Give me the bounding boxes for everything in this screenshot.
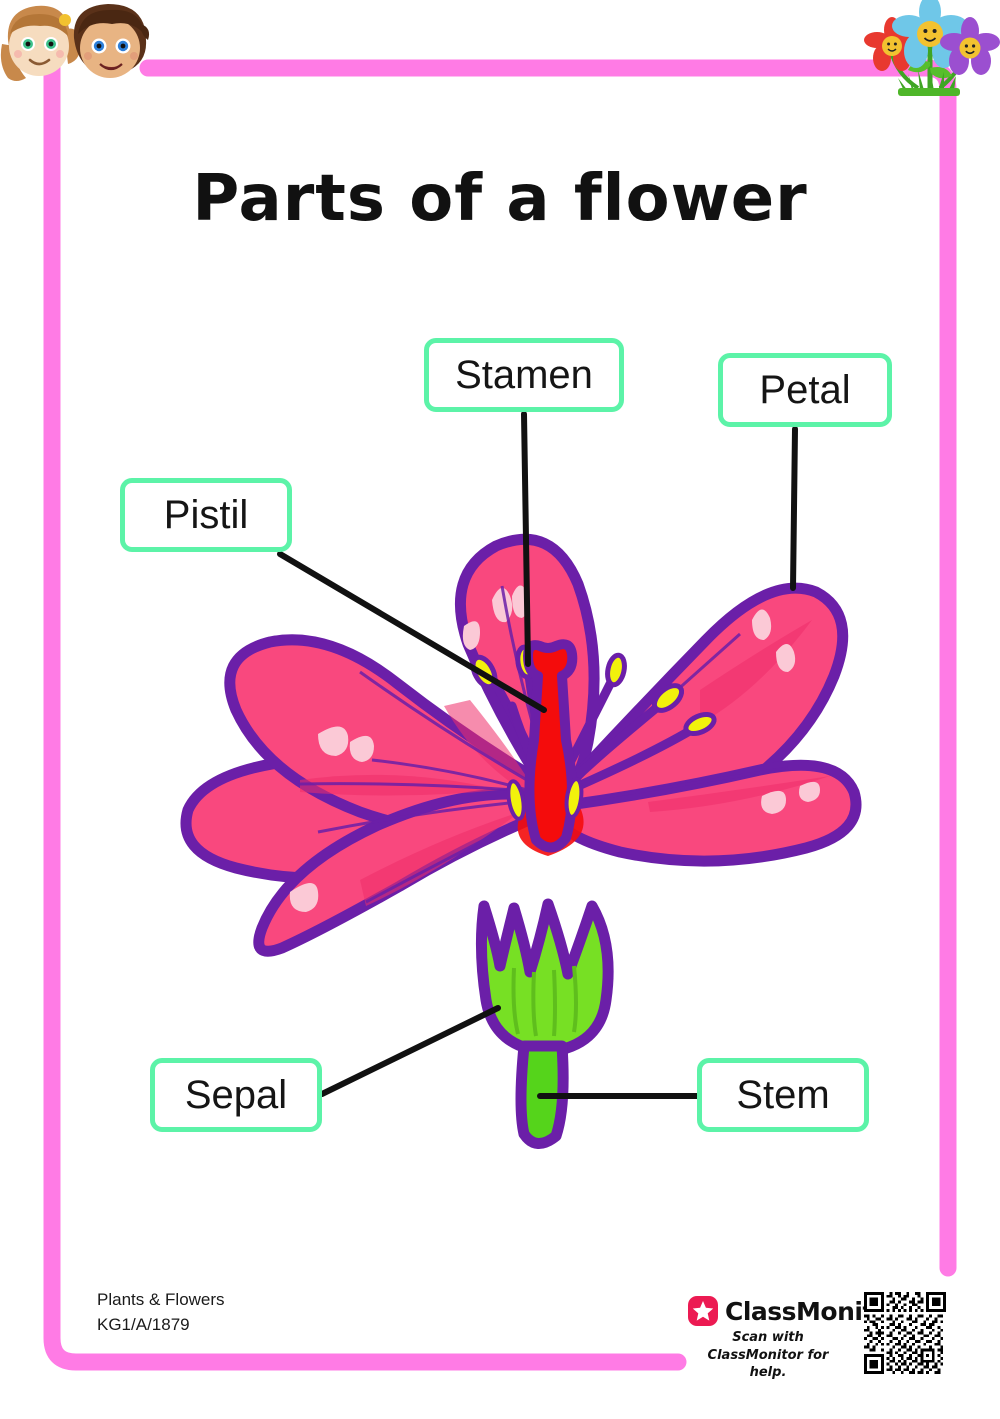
brand-block: ClassMonitor Scan with ClassMonitor for … [688, 1296, 858, 1382]
label-sepal[interactable]: Sepal [150, 1058, 322, 1132]
brand-tagline-line2: ClassMonitor for help. [688, 1347, 848, 1382]
leader-line-petal [793, 429, 795, 588]
worksheet-page: Parts of a flower [0, 0, 1000, 1419]
footer-reference: Plants & Flowers KG1/A/1879 [97, 1288, 225, 1337]
flower-diagram [0, 0, 1000, 1419]
leader-line-sepal [322, 1008, 498, 1094]
label-stem[interactable]: Stem [697, 1058, 869, 1132]
flower-illustration [186, 539, 856, 1143]
classmonitor-star-icon [688, 1296, 718, 1326]
brand-tagline: Scan with ClassMonitor for help. [688, 1329, 848, 1382]
label-petal[interactable]: Petal [718, 353, 892, 427]
label-stamen[interactable]: Stamen [424, 338, 624, 412]
qr-code[interactable] [864, 1292, 946, 1374]
footer-subject: Plants & Flowers [97, 1288, 225, 1313]
footer-code: KG1/A/1879 [97, 1313, 225, 1338]
leader-line-stamen [524, 414, 528, 664]
label-pistil[interactable]: Pistil [120, 478, 292, 552]
brand-tagline-line1: Scan with [688, 1329, 848, 1347]
